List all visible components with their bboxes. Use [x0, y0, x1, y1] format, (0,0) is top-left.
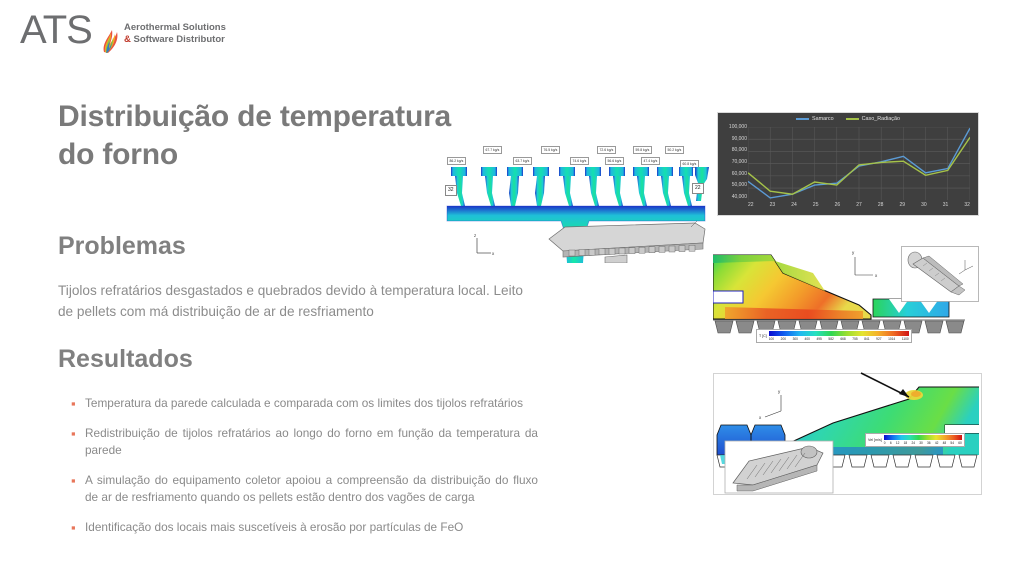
- flow-label: 59.8 kg/s: [633, 146, 652, 154]
- scale-tick: 6: [890, 441, 892, 445]
- y-tick: 90,000: [720, 136, 747, 142]
- legend-label-radiacao: Caso_Radiação: [862, 116, 900, 122]
- list-item-label: Identificação dos locais mais suscetívei…: [85, 519, 538, 536]
- page-title-line2: do forno: [58, 136, 488, 174]
- list-item-label: Temperatura da parede calculada e compar…: [85, 395, 538, 412]
- scale-tick: 755: [852, 337, 857, 341]
- y-tick: 60,000: [720, 171, 747, 177]
- scale-tick: 12: [896, 441, 900, 445]
- list-item: ▪ Temperatura da parede calculada e comp…: [68, 395, 538, 412]
- axis-label-x: x: [492, 251, 495, 256]
- furnace-temperature-figure: y x T [C]: [713, 243, 983, 361]
- flame-icon: [100, 24, 120, 54]
- scalebar-label: Vel [m/s]: [868, 438, 882, 442]
- scale-tick: 841: [864, 337, 869, 341]
- page-title-line1: Distribuição de temperatura: [58, 98, 488, 136]
- y-tick: 100,000: [720, 124, 747, 130]
- x-tick: 32: [964, 202, 970, 212]
- scale-tick: 54: [950, 441, 954, 445]
- scale-tick: 400: [805, 337, 810, 341]
- flow-label: 72.6 kg/s: [597, 146, 616, 154]
- chart-y-axis-labels: 100,000 90,000 80,000 70,000 60,000 50,0…: [720, 124, 747, 200]
- list-item-label: Redistribuição de tijolos refratários ao…: [85, 425, 538, 459]
- problemas-body-text: Tijolos refratários desgastados e quebra…: [58, 280, 528, 322]
- scale-tick: 200: [781, 337, 786, 341]
- velocity-scalebar: Vel [m/s] 0 6 12 18 24 30 36 42 48 54 60: [865, 433, 965, 447]
- legend-entry-radiacao: Caso_Radiação: [846, 116, 900, 122]
- resultados-bullet-list: ▪ Temperatura da parede calculada e comp…: [68, 395, 538, 549]
- chart-plot-area: [748, 127, 970, 200]
- scale-tick: 42: [935, 441, 939, 445]
- svg-text:x: x: [875, 273, 878, 278]
- x-tick: 28: [878, 202, 884, 212]
- logo-tagline-line1: Aerothermal Solutions: [124, 22, 226, 33]
- manifold-axis-indicator-icon: z x: [473, 233, 495, 257]
- list-item-label: A simulação do equipamento coletor apoio…: [85, 472, 538, 506]
- slide-root: ATS Aerothermal Solutions & Software Dis…: [0, 0, 1024, 576]
- list-item: ▪ Redistribuição de tijolos refratários …: [68, 425, 538, 459]
- scale-tick: 100: [769, 337, 774, 341]
- x-tick: 31: [943, 202, 949, 212]
- svg-text:y: y: [852, 250, 855, 255]
- list-item: ▪ Identificação dos locais mais suscetív…: [68, 519, 538, 536]
- scale-tick: 582: [828, 337, 833, 341]
- legend-entry-samarco: Samarco: [796, 116, 834, 122]
- bullet-marker-icon: ▪: [68, 519, 85, 536]
- scalebar-gradient: 0 6 12 18 24 30 36 42 48 54 60: [884, 435, 962, 445]
- flow-label: 76.5 kg/s: [541, 146, 560, 154]
- scale-tick: 300: [793, 337, 798, 341]
- scale-tick: 30: [919, 441, 923, 445]
- x-tick: 26: [835, 202, 841, 212]
- x-tick: 24: [791, 202, 797, 212]
- legend-label-samarco: Samarco: [812, 116, 834, 122]
- bullet-marker-icon: ▪: [68, 395, 85, 412]
- x-tick: 23: [770, 202, 776, 212]
- y-tick: 40,000: [720, 194, 747, 200]
- scalebar-gradient: 100 200 300 400 495 582 668 755 841 927 …: [769, 331, 909, 341]
- list-item: ▪ A simulação do equipamento coletor apo…: [68, 472, 538, 506]
- logo-tagline-line2: Software Distributor: [134, 34, 225, 45]
- legend-swatch-samarco: [796, 118, 809, 120]
- logo-wordmark: ATS: [20, 8, 92, 52]
- page-title: Distribuição de temperatura do forno: [58, 98, 488, 174]
- scalebar-tick-labels: 100 200 300 400 495 582 668 755 841 927 …: [769, 337, 909, 341]
- flow-label: 50.2 kg/s: [665, 146, 684, 154]
- scalebar-color-ramp: [884, 435, 962, 440]
- furnace-velocity-figure: y x Vel [m/s]: [713, 365, 983, 495]
- x-tick: 22: [748, 202, 754, 212]
- manifold-right-end-label: 22: [692, 183, 704, 194]
- scale-tick: 495: [816, 337, 821, 341]
- scale-tick: 1014: [888, 337, 895, 341]
- bullet-marker-icon: ▪: [68, 425, 85, 459]
- scale-tick: 0: [884, 441, 886, 445]
- y-tick: 50,000: [720, 182, 747, 188]
- scale-tick: 668: [840, 337, 845, 341]
- section-heading-problemas: Problemas: [58, 232, 186, 261]
- scale-tick: 927: [876, 337, 881, 341]
- axis-label-z: z: [474, 233, 477, 238]
- scale-tick: 36: [927, 441, 931, 445]
- x-tick: 27: [856, 202, 862, 212]
- scalebar-color-ramp: [769, 331, 909, 336]
- furnace-3d-inset-icon: [901, 246, 979, 302]
- legend-swatch-radiacao: [846, 118, 859, 120]
- x-tick: 30: [921, 202, 927, 212]
- y-tick: 80,000: [720, 147, 747, 153]
- chart-x-axis-labels: 22 23 24 25 26 27 28 29 30 31 32: [748, 202, 970, 212]
- section-heading-resultados: Resultados: [58, 345, 193, 374]
- x-tick: 29: [899, 202, 905, 212]
- scalebar-tick-labels: 0 6 12 18 24 30 36 42 48 54 60: [884, 441, 962, 445]
- scalebar-label: T [C]: [759, 334, 767, 338]
- logo-tagline: Aerothermal Solutions & Software Distrib…: [124, 22, 226, 45]
- temperature-line-chart: Samarco Caso_Radiação 100,000 90,000 80,…: [717, 112, 979, 216]
- velocity-contour-svg: y x: [713, 365, 983, 495]
- y-tick: 70,000: [720, 159, 747, 165]
- scale-tick: 24: [911, 441, 915, 445]
- scale-tick: 48: [943, 441, 947, 445]
- logo-tagline-amp: &: [124, 34, 131, 45]
- scale-tick: 18: [904, 441, 908, 445]
- scale-tick: 1100: [902, 337, 909, 341]
- chart-legend: Samarco Caso_Radiação: [718, 116, 978, 122]
- manifold-left-end-label: 32: [445, 185, 457, 196]
- x-tick: 25: [813, 202, 819, 212]
- flow-label: 67.7 kg/s: [483, 146, 502, 154]
- scale-tick: 60: [958, 441, 962, 445]
- manifold-cfd-figure: 86.2 kg/s 67.7 kg/s 63.7 kg/s 76.5 kg/s …: [437, 143, 712, 263]
- furnace-axis-indicator-icon: y x: [852, 250, 878, 278]
- manifold-3d-inset-icon: [545, 217, 710, 263]
- furnace-temperature-scalebar: T [C] 100 200 300 400 495 582 668 755 84…: [756, 329, 912, 343]
- ats-logo: ATS Aerothermal Solutions & Software Dis…: [20, 8, 250, 60]
- bullet-marker-icon: ▪: [68, 472, 85, 506]
